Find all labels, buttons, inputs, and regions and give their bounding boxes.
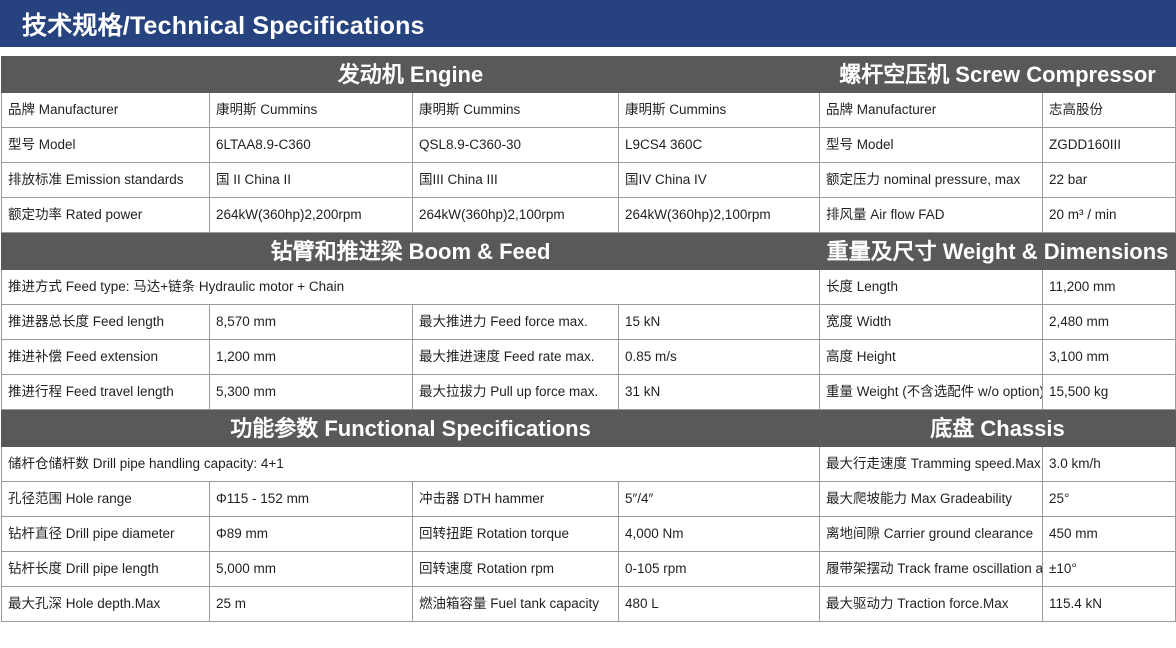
left-column: 发动机 Engine 品牌 Manufacturer 康明斯 Cummins 康… bbox=[1, 56, 819, 622]
row-value-1: 康明斯 Cummins bbox=[210, 93, 413, 128]
row-label: 排放标准 Emission standards bbox=[2, 163, 210, 198]
row-label-2: 最大拉拔力 Pull up force max. bbox=[413, 375, 619, 410]
row-label: 重量 Weight (不含选配件 w/o option) bbox=[820, 375, 1043, 410]
row-value: 22 bar bbox=[1043, 163, 1176, 198]
table-row: 最大爬坡能力 Max Gradeability 25° bbox=[820, 482, 1176, 517]
row-label: 品牌 Manufacturer bbox=[2, 93, 210, 128]
row-label: 最大孔深 Hole depth.Max bbox=[2, 587, 210, 622]
table-row: 排放标准 Emission standards 国 II China II 国I… bbox=[2, 163, 820, 198]
table-row: 高度 Height 3,100 mm bbox=[820, 340, 1176, 375]
section-title-functional: 功能参数 Functional Specifications bbox=[2, 411, 820, 447]
table-row: 推进补偿 Feed extension 1,200 mm 最大推进速度 Feed… bbox=[2, 340, 820, 375]
row-label-2: 回转速度 Rotation rpm bbox=[413, 552, 619, 587]
row-value-3: 康明斯 Cummins bbox=[619, 93, 820, 128]
row-value: 25° bbox=[1043, 482, 1176, 517]
boom-feed-table: 钻臂和推进梁 Boom & Feed 推进方式 Feed type: 马达+链条… bbox=[1, 233, 820, 410]
row-label-2: 回转扭距 Rotation torque bbox=[413, 517, 619, 552]
row-label: 履带架摆动 Track frame oscillation angle bbox=[820, 552, 1043, 587]
table-row: 排风量 Air flow FAD 20 m³ / min bbox=[820, 198, 1176, 233]
table-row: 品牌 Manufacturer 志高股份 bbox=[820, 93, 1176, 128]
table-row: 宽度 Width 2,480 mm bbox=[820, 305, 1176, 340]
row-value: 志高股份 bbox=[1043, 93, 1176, 128]
row-label: 品牌 Manufacturer bbox=[820, 93, 1043, 128]
row-label: 型号 Model bbox=[820, 128, 1043, 163]
table-row: 最大孔深 Hole depth.Max 25 m 燃油箱容量 Fuel tank… bbox=[2, 587, 820, 622]
row-value-3: 264kW(360hp)2,100rpm bbox=[619, 198, 820, 233]
row-label: 型号 Model bbox=[2, 128, 210, 163]
row-value-2: 0.85 m/s bbox=[619, 340, 820, 375]
page-title: 技术规格/Technical Specifications bbox=[22, 6, 425, 42]
row-value: 3,100 mm bbox=[1043, 340, 1176, 375]
row-value-2: QSL8.9-C360-30 bbox=[413, 128, 619, 163]
row-label: 最大行走速度 Tramming speed.Max bbox=[820, 447, 1043, 482]
section-title-engine: 发动机 Engine bbox=[2, 57, 820, 93]
row-value: 25 m bbox=[210, 587, 413, 622]
section-header-functional: 功能参数 Functional Specifications bbox=[2, 411, 820, 447]
row-label: 最大驱动力 Traction force.Max bbox=[820, 587, 1043, 622]
row-label: 推进器总长度 Feed length bbox=[2, 305, 210, 340]
row-value-1: 6LTAA8.9-C360 bbox=[210, 128, 413, 163]
row-label-2: 最大推进速度 Feed rate max. bbox=[413, 340, 619, 375]
row-value-3: 国IV China IV bbox=[619, 163, 820, 198]
table-row: 储杆仓储杆数 Drill pipe handling capacity: 4+1 bbox=[2, 447, 820, 482]
row-label: 排风量 Air flow FAD bbox=[820, 198, 1043, 233]
table-row: 孔径范围 Hole range Φ115 - 152 mm 冲击器 DTH ha… bbox=[2, 482, 820, 517]
table-row: 最大行走速度 Tramming speed.Max 3.0 km/h bbox=[820, 447, 1176, 482]
table-row: 推进器总长度 Feed length 8,570 mm 最大推进力 Feed f… bbox=[2, 305, 820, 340]
right-column: 螺杆空压机 Screw Compressor 品牌 Manufacturer 志… bbox=[819, 56, 1175, 622]
row-label: 最大爬坡能力 Max Gradeability bbox=[820, 482, 1043, 517]
row-label: 钻杆长度 Drill pipe length bbox=[2, 552, 210, 587]
table-row: 钻杆长度 Drill pipe length 5,000 mm 回转速度 Rot… bbox=[2, 552, 820, 587]
row-value-2: 4,000 Nm bbox=[619, 517, 820, 552]
row-value: ±10° bbox=[1043, 552, 1176, 587]
row-value-2: 15 kN bbox=[619, 305, 820, 340]
section-title-boom-feed: 钻臂和推进梁 Boom & Feed bbox=[2, 234, 820, 270]
section-header-boom-feed: 钻臂和推进梁 Boom & Feed bbox=[2, 234, 820, 270]
section-title-compressor: 螺杆空压机 Screw Compressor bbox=[820, 57, 1176, 93]
chassis-table: 底盘 Chassis 最大行走速度 Tramming speed.Max 3.0… bbox=[819, 410, 1176, 622]
row-label: 离地间隙 Carrier ground clearance bbox=[820, 517, 1043, 552]
table-row: 钻杆直径 Drill pipe diameter Φ89 mm 回转扭距 Rot… bbox=[2, 517, 820, 552]
row-label: 宽度 Width bbox=[820, 305, 1043, 340]
table-row: 履带架摆动 Track frame oscillation angle ±10° bbox=[820, 552, 1176, 587]
row-label: 高度 Height bbox=[820, 340, 1043, 375]
table-row: 推进行程 Feed travel length 5,300 mm 最大拉拔力 P… bbox=[2, 375, 820, 410]
section-title-chassis: 底盘 Chassis bbox=[820, 411, 1176, 447]
row-value: 1,200 mm bbox=[210, 340, 413, 375]
row-value-2: 5″/4″ bbox=[619, 482, 820, 517]
table-row: 重量 Weight (不含选配件 w/o option) 15,500 kg bbox=[820, 375, 1176, 410]
table-row: 长度 Length 11,200 mm bbox=[820, 270, 1176, 305]
section-header-compressor: 螺杆空压机 Screw Compressor bbox=[820, 57, 1176, 93]
row-label: 额定压力 nominal pressure, max bbox=[820, 163, 1043, 198]
section-header-engine: 发动机 Engine bbox=[2, 57, 820, 93]
compressor-table: 螺杆空压机 Screw Compressor 品牌 Manufacturer 志… bbox=[819, 56, 1176, 233]
row-label: 额定功率 Rated power bbox=[2, 198, 210, 233]
row-value: 3.0 km/h bbox=[1043, 447, 1176, 482]
section-title-weight: 重量及尺寸 Weight & Dimensions bbox=[820, 234, 1176, 270]
row-label: 长度 Length bbox=[820, 270, 1043, 305]
row-value-2: 264kW(360hp)2,100rpm bbox=[413, 198, 619, 233]
table-row: 离地间隙 Carrier ground clearance 450 mm bbox=[820, 517, 1176, 552]
row-label: 推进补偿 Feed extension bbox=[2, 340, 210, 375]
row-value-3: L9CS4 360C bbox=[619, 128, 820, 163]
functional-specs-table: 功能参数 Functional Specifications 储杆仓储杆数 Dr… bbox=[1, 410, 820, 622]
section-header-chassis: 底盘 Chassis bbox=[820, 411, 1176, 447]
feed-type-row: 推进方式 Feed type: 马达+链条 Hydraulic motor + … bbox=[2, 270, 820, 305]
row-value: 15,500 kg bbox=[1043, 375, 1176, 410]
row-value: 5,300 mm bbox=[210, 375, 413, 410]
specifications-table: 发动机 Engine 品牌 Manufacturer 康明斯 Cummins 康… bbox=[0, 47, 1176, 648]
row-value: 115.4 kN bbox=[1043, 587, 1176, 622]
table-row: 额定功率 Rated power 264kW(360hp)2,200rpm 26… bbox=[2, 198, 820, 233]
row-value: 450 mm bbox=[1043, 517, 1176, 552]
row-label-2: 最大推进力 Feed force max. bbox=[413, 305, 619, 340]
row-value-2: 国III China III bbox=[413, 163, 619, 198]
row-value: Φ115 - 152 mm bbox=[210, 482, 413, 517]
row-value-2: 康明斯 Cummins bbox=[413, 93, 619, 128]
row-value: 11,200 mm bbox=[1043, 270, 1176, 305]
row-label: 孔径范围 Hole range bbox=[2, 482, 210, 517]
section-header-weight: 重量及尺寸 Weight & Dimensions bbox=[820, 234, 1176, 270]
row-value: 5,000 mm bbox=[210, 552, 413, 587]
row-value: 20 m³ / min bbox=[1043, 198, 1176, 233]
table-row: 型号 Model 6LTAA8.9-C360 QSL8.9-C360-30 L9… bbox=[2, 128, 820, 163]
row-label-2: 燃油箱容量 Fuel tank capacity bbox=[413, 587, 619, 622]
row-value: ZGDD160III bbox=[1043, 128, 1176, 163]
row-value: Φ89 mm bbox=[210, 517, 413, 552]
row-label: 推进行程 Feed travel length bbox=[2, 375, 210, 410]
table-row: 推进方式 Feed type: 马达+链条 Hydraulic motor + … bbox=[2, 270, 820, 305]
row-label-2: 冲击器 DTH hammer bbox=[413, 482, 619, 517]
table-row: 额定压力 nominal pressure, max 22 bar bbox=[820, 163, 1176, 198]
row-value-2: 31 kN bbox=[619, 375, 820, 410]
drill-pipe-capacity-row: 储杆仓储杆数 Drill pipe handling capacity: 4+1 bbox=[2, 447, 820, 482]
page-title-banner: 技术规格/Technical Specifications bbox=[0, 0, 1176, 47]
row-value: 2,480 mm bbox=[1043, 305, 1176, 340]
table-row: 品牌 Manufacturer 康明斯 Cummins 康明斯 Cummins … bbox=[2, 93, 820, 128]
weight-dimensions-table: 重量及尺寸 Weight & Dimensions 长度 Length 11,2… bbox=[819, 233, 1176, 410]
row-value-2: 480 L bbox=[619, 587, 820, 622]
table-row: 型号 Model ZGDD160III bbox=[820, 128, 1176, 163]
row-value-2: 0-105 rpm bbox=[619, 552, 820, 587]
engine-table: 发动机 Engine 品牌 Manufacturer 康明斯 Cummins 康… bbox=[1, 56, 820, 233]
row-value-1: 国 II China II bbox=[210, 163, 413, 198]
table-row: 最大驱动力 Traction force.Max 115.4 kN bbox=[820, 587, 1176, 622]
row-value: 8,570 mm bbox=[210, 305, 413, 340]
row-value-1: 264kW(360hp)2,200rpm bbox=[210, 198, 413, 233]
row-label: 钻杆直径 Drill pipe diameter bbox=[2, 517, 210, 552]
